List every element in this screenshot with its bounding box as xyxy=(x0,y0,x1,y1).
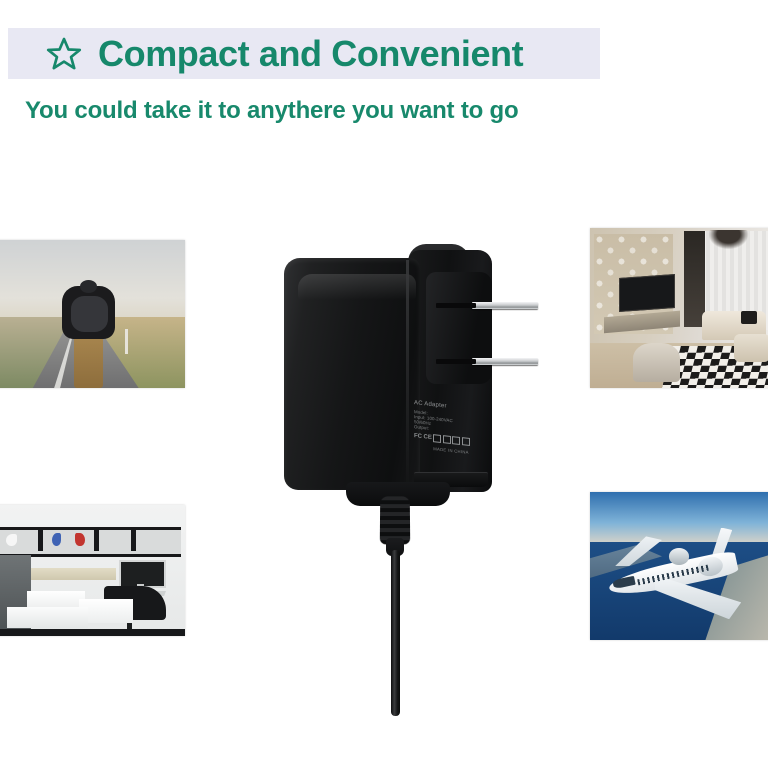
header-banner: Compact and Convenient xyxy=(8,28,600,79)
prong-slot-bottom xyxy=(436,359,476,364)
chandelier xyxy=(705,230,752,252)
engine-far xyxy=(669,548,689,564)
fcc-mark: FC xyxy=(414,433,422,441)
adapter-main-body xyxy=(284,258,420,490)
prong-slot-top xyxy=(436,303,476,308)
cert-mark-box-2 xyxy=(443,435,451,444)
blue-bird-figurine xyxy=(52,533,62,546)
desk-surface-2 xyxy=(7,607,88,628)
wall-mounted-tv xyxy=(619,274,675,312)
shelf-divider-1 xyxy=(38,527,43,551)
cert-mark-box-3 xyxy=(452,436,460,445)
armchair xyxy=(633,343,680,381)
sky-layer xyxy=(590,492,768,548)
shelf-divider-3 xyxy=(131,527,136,551)
roadside-post xyxy=(125,329,128,354)
photo-office xyxy=(0,505,185,636)
star-outline-icon xyxy=(46,36,82,72)
white-bird-figurine xyxy=(6,534,18,546)
prong-blade-top xyxy=(472,302,538,309)
wall-shelf xyxy=(0,527,181,557)
backpack xyxy=(71,296,108,332)
page-subtitle: You could take it to anythere you want t… xyxy=(25,97,518,125)
adapter-top-highlight xyxy=(298,274,416,300)
ac-power-adapter: AC Adapter Model: Input: 100-240VAC 50/6… xyxy=(276,244,544,720)
photo-livingroom xyxy=(590,228,768,388)
cert-mark-box-4 xyxy=(462,437,470,446)
photo-livingroom-scene xyxy=(590,228,768,388)
page-title: Compact and Convenient xyxy=(98,36,523,72)
adapter-spec-label: AC Adapter Model: Input: 100-240VAC 50/6… xyxy=(414,400,488,458)
photo-backpacker-scene xyxy=(0,240,185,388)
sofa-secondary xyxy=(734,334,768,363)
power-cable xyxy=(391,550,400,716)
desk-backsplash xyxy=(31,568,116,580)
adapter-seam-line xyxy=(406,260,409,486)
red-bird-figurine xyxy=(75,533,85,546)
prong-base-plate xyxy=(426,272,492,384)
photo-airplane xyxy=(590,492,768,640)
photo-office-scene xyxy=(0,505,185,636)
walker-legs xyxy=(74,332,103,388)
shelf-divider-2 xyxy=(94,527,99,551)
prong-blade-bottom xyxy=(472,358,538,365)
cert-mark-box-1 xyxy=(433,434,441,443)
sofa-pillow xyxy=(741,311,757,324)
photo-backpacker xyxy=(0,240,185,388)
photo-airplane-scene xyxy=(590,492,768,640)
floor-band xyxy=(0,629,185,636)
ce-mark: CE xyxy=(424,434,432,442)
